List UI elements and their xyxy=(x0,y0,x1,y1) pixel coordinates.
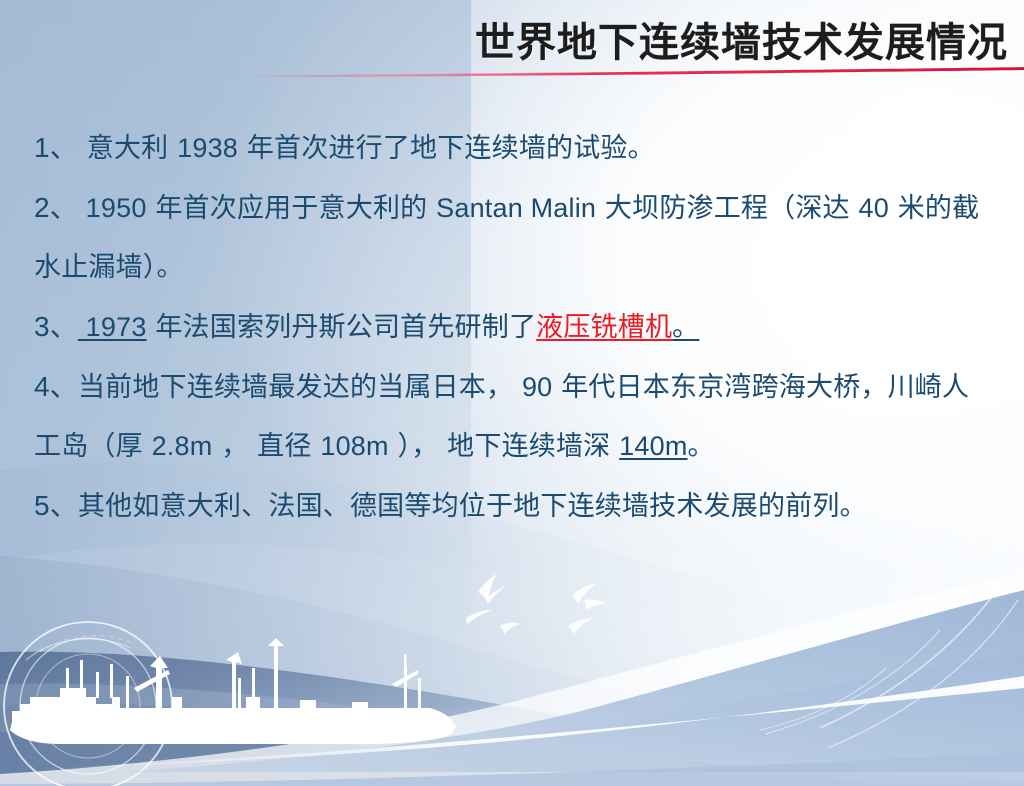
item-marker-3: 3、 xyxy=(34,311,78,342)
page-title: 世界地下连续墙技术发展情况 xyxy=(475,10,1008,68)
item-1-year: 1938 xyxy=(177,133,238,163)
item-2-depth: 40 xyxy=(859,193,889,223)
body-item-4: 4、当前地下连续墙最发达的当属日本， 90 年代日本东京湾跨海大桥，川崎人工岛（… xyxy=(34,357,994,476)
item-4-text-c: ， 直径 xyxy=(212,431,320,462)
item-2-text-b: 大坝防渗工程（深达 xyxy=(596,193,858,224)
item-4-diameter: 108m xyxy=(320,431,388,461)
item-marker-5: 5、 xyxy=(34,490,78,521)
item-marker-1: 1、 xyxy=(34,132,78,163)
title-underline-accent xyxy=(0,64,1024,78)
item-2-text-a: 年首次应用于意大利的 xyxy=(147,193,437,224)
item-2-year: 1950 xyxy=(78,193,147,223)
item-3-text-b: 。 xyxy=(672,312,699,343)
item-4-wall-depth: 140m xyxy=(619,431,687,461)
item-2-project-name: Santan Malin xyxy=(436,193,596,223)
item-4-text-d: ）， 地下连续墙深 xyxy=(389,431,619,462)
body-text-block: 1、 意大利 1938 年首次进行了地下连续墙的试验。 2、 1950 年首次应… xyxy=(34,118,994,536)
item-1-text-b: 年首次进行了地下连续墙的试验。 xyxy=(238,133,655,164)
slide-canvas: 世界地下连续墙技术发展情况 1、 意大利 1938 年首次进行了地下连续墙的试验… xyxy=(0,0,1024,786)
item-marker-4: 4、 xyxy=(34,371,78,402)
body-item-5: 5、其他如意大利、法国、德国等均位于地下连续墙技术发展的前列。 xyxy=(34,476,994,536)
body-item-2: 2、 1950 年首次应用于意大利的 Santan Malin 大坝防渗工程（深… xyxy=(34,178,994,297)
title-area: 世界地下连续墙技术发展情况 xyxy=(0,6,1024,74)
item-3-text-a: 年法国索列丹斯公司首先研制了 xyxy=(147,312,537,343)
body-item-3: 3、 1973 年法国索列丹斯公司首先研制了液压铣槽机。 xyxy=(34,297,994,357)
item-1-text-a: 意大利 xyxy=(78,133,177,164)
item-5-text: 其他如意大利、法国、德国等均位于地下连续墙技术发展的前列。 xyxy=(78,491,867,522)
item-3-year: 1973 xyxy=(78,312,147,342)
item-4-thickness: 2.8m xyxy=(152,431,213,461)
body-item-1: 1、 意大利 1938 年首次进行了地下连续墙的试验。 xyxy=(34,118,994,178)
item-marker-2: 2、 xyxy=(34,192,78,223)
item-3-highlight-term: 液压铣槽机 xyxy=(536,312,672,343)
item-4-text-a: 当前地下连续墙最发达的当属日本， xyxy=(78,372,522,403)
item-4-decade: 90 xyxy=(522,372,552,402)
item-4-text-e: 。 xyxy=(688,431,715,462)
